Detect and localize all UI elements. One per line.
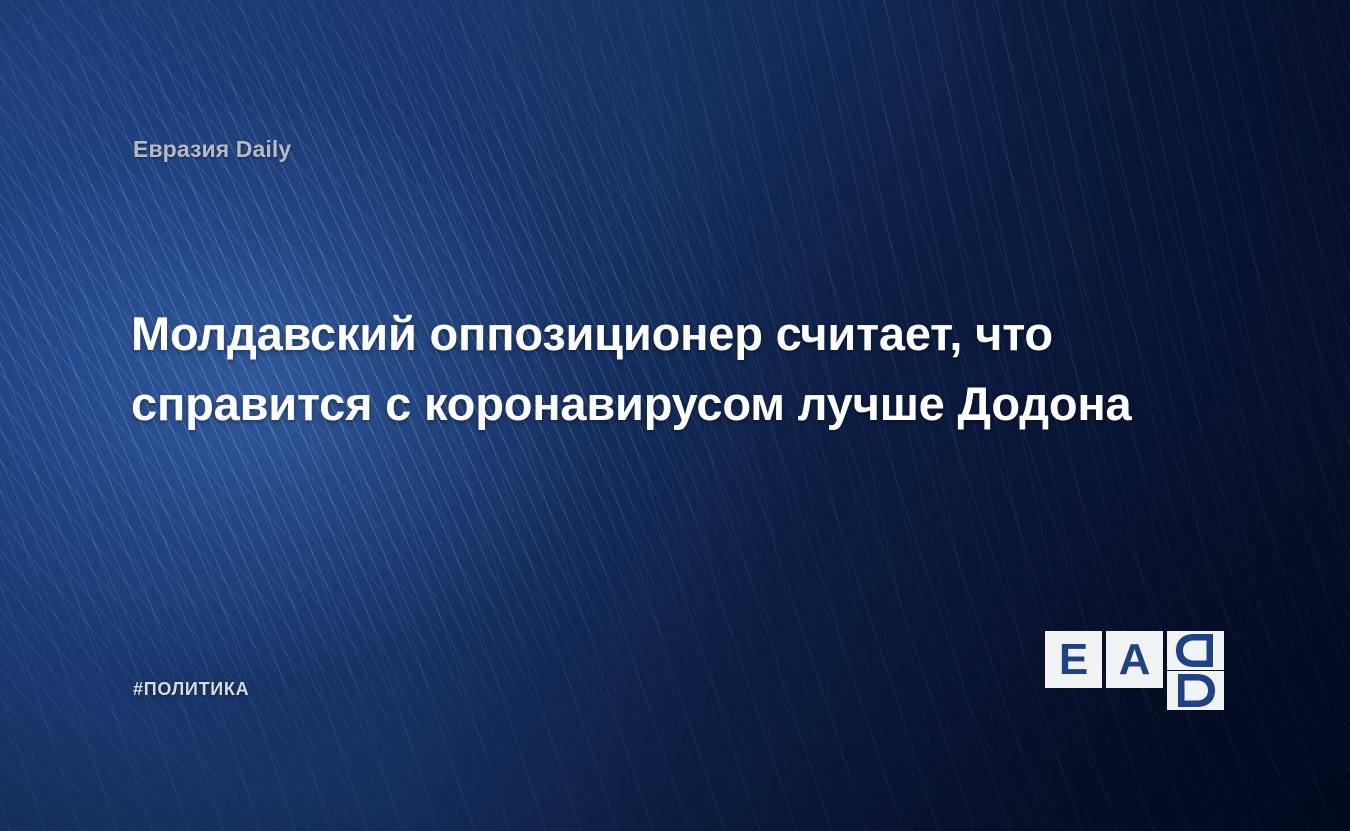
logo-d-glyph-bottom <box>1167 671 1224 710</box>
logo-letter-e: E <box>1059 638 1088 682</box>
article-cover-card: Евразия Daily Молдавский оппозиционер сч… <box>0 0 1350 831</box>
logo-d-glyph-top <box>1167 631 1224 670</box>
article-headline: Молдавский оппозиционер считает, что спр… <box>131 299 1226 437</box>
eadaily-logo: E A <box>1045 631 1227 711</box>
category-hashtag: #ПОЛИТИКА <box>133 679 249 700</box>
logo-tile-a: A <box>1106 631 1163 688</box>
logo-letter-a: A <box>1119 638 1151 682</box>
logo-tile-d-stacked <box>1167 631 1224 711</box>
publication-brand-name: Евразия Daily <box>133 136 291 163</box>
logo-tile-e: E <box>1045 631 1102 688</box>
